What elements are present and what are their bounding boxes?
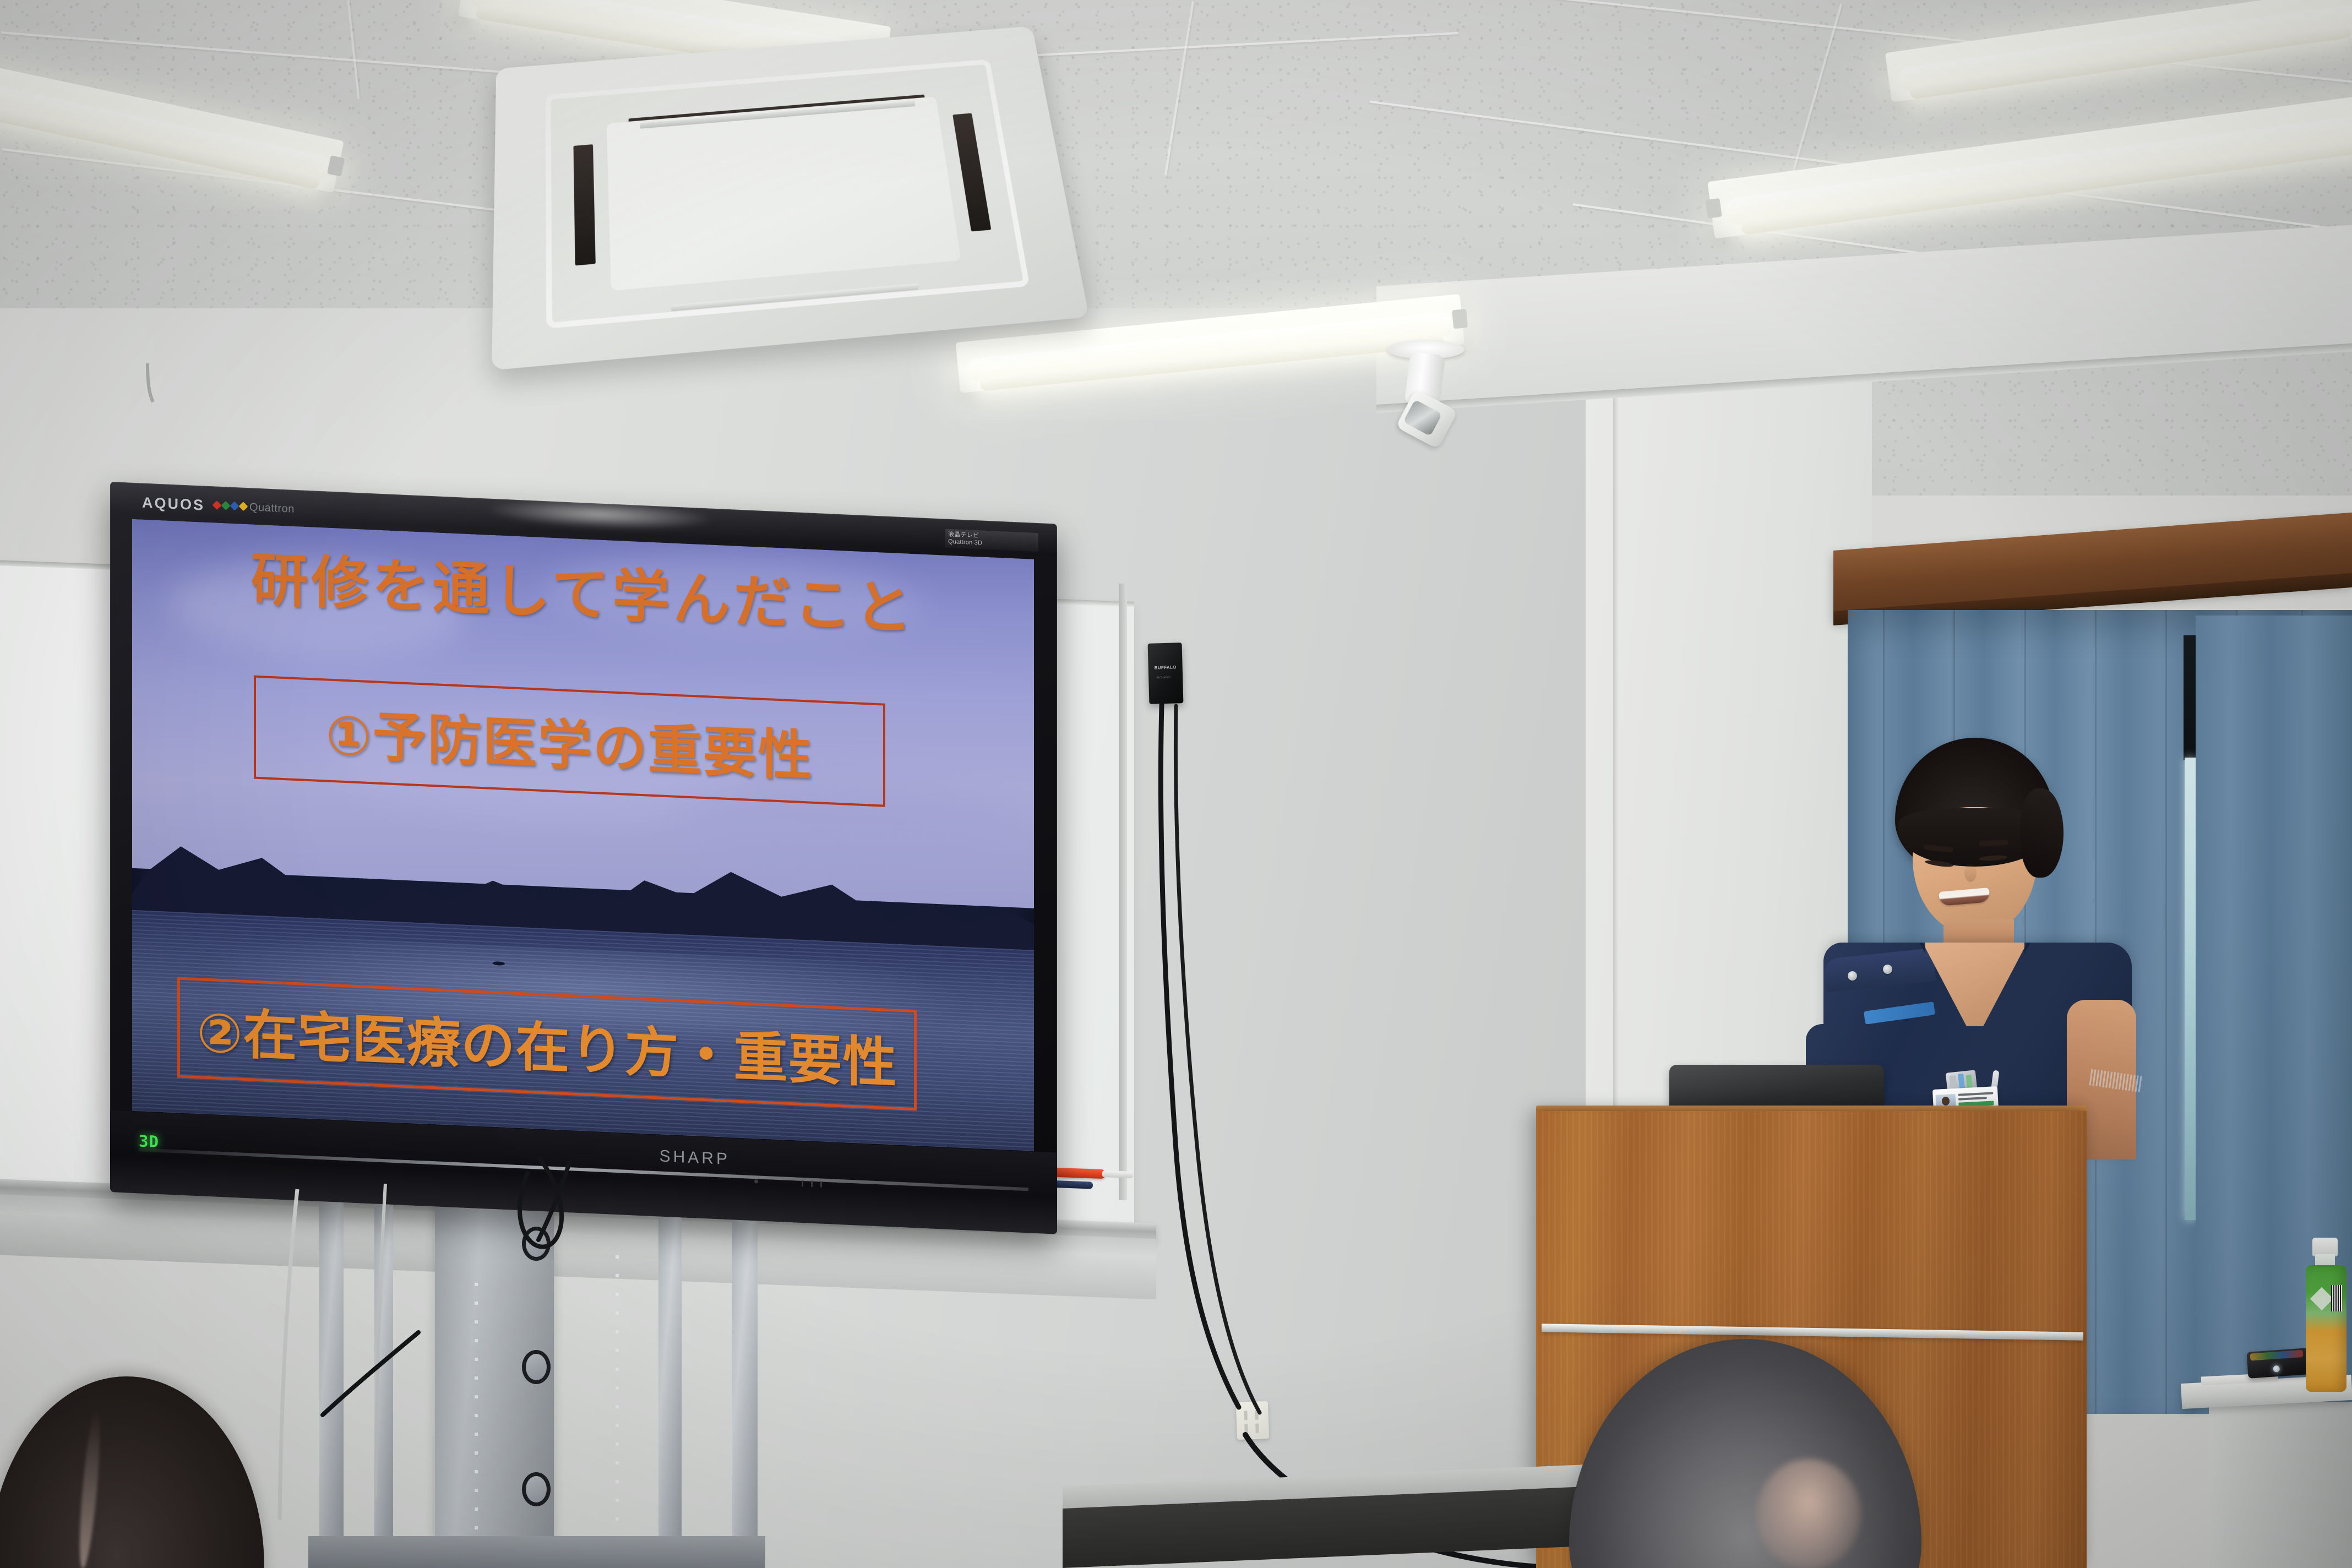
bottle-label bbox=[2306, 1265, 2346, 1392]
badge-text-line-2 bbox=[1958, 1097, 1987, 1101]
audience-right-scalp bbox=[1756, 1459, 1861, 1568]
sharp-logo: SHARP bbox=[660, 1147, 730, 1169]
tv-stand-leg-left bbox=[319, 1156, 344, 1568]
curtain-fold bbox=[2165, 610, 2167, 1414]
badge-text-line-1 bbox=[1958, 1092, 1993, 1096]
light-end-cap bbox=[1705, 198, 1722, 219]
tv-stand-hole-strip-right bbox=[616, 1255, 619, 1542]
quattron-logo: Quattron bbox=[249, 501, 295, 516]
outlet-slot-right bbox=[1255, 1411, 1259, 1420]
presentation-room-photo: AQUOS Quattron 液晶テレビ Quattron 3D bbox=[0, 0, 2352, 1568]
whiteboard-right-post bbox=[1119, 584, 1127, 1201]
slide-item-2-text: ②在宅医療の在り方・重要性 bbox=[197, 989, 897, 1098]
outlet-slot-right-2 bbox=[1255, 1424, 1259, 1433]
ac-vent-left bbox=[574, 144, 596, 265]
tv-remote-control[interactable] bbox=[2246, 1348, 2310, 1379]
light-end-cap bbox=[1452, 309, 1468, 329]
outlet-slot-left bbox=[1244, 1411, 1248, 1420]
tv-3d-indicator: 3D bbox=[139, 1131, 159, 1151]
badge-photo-head bbox=[1942, 1097, 1950, 1106]
tv-stand-leg-right bbox=[658, 1156, 682, 1568]
presenter-shoulder-snap-1 bbox=[1848, 971, 1857, 981]
presentation-slide: 研修を通して学んだこと ①予防医学の重要性 ②在宅医療の在り方・重要性 bbox=[132, 519, 1034, 1151]
tv-stand-base bbox=[308, 1536, 765, 1568]
bottle-barcode bbox=[2331, 1285, 2342, 1311]
tv-stand-cable-hole-1 bbox=[522, 1227, 551, 1261]
tv-stand-leg-left-inner bbox=[374, 1156, 393, 1568]
presenter-shoulder-snap-2 bbox=[1883, 965, 1892, 974]
window-daylight-sliver bbox=[2185, 758, 2196, 1220]
remote-color-buttons bbox=[2250, 1350, 2304, 1361]
remote-led-icon bbox=[2273, 1365, 2280, 1373]
access-point-brand: BUFFALO bbox=[1155, 665, 1177, 670]
ceiling-spotlight bbox=[1387, 340, 1464, 450]
presenter-nose bbox=[1964, 863, 1977, 882]
wall-power-outlet bbox=[1236, 1401, 1269, 1440]
access-point-model: AirStation bbox=[1156, 676, 1170, 680]
tv-stand-cable-hole-3 bbox=[522, 1472, 551, 1506]
ceiling-air-conditioner bbox=[492, 26, 1089, 370]
tv-stand-hole-strip-left bbox=[475, 1283, 478, 1558]
tv-ir-receiver-icon bbox=[754, 1179, 758, 1183]
badge-clip-accent-3 bbox=[1966, 1075, 1972, 1088]
curtain-gap-shadow bbox=[2184, 635, 2196, 760]
bottle-cap bbox=[2312, 1238, 2338, 1256]
presenter-hair-side bbox=[2021, 788, 2064, 878]
aquos-logo: AQUOS bbox=[142, 494, 205, 514]
tv-stand-cable-hole-2 bbox=[522, 1350, 551, 1384]
outlet-slot-left-2 bbox=[1244, 1424, 1248, 1433]
television[interactable]: AQUOS Quattron 液晶テレビ Quattron 3D bbox=[110, 482, 1057, 1234]
slide-item-1-text: ①予防医学の重要性 bbox=[326, 692, 813, 791]
tv-screen[interactable]: 研修を通して学んだこと ①予防医学の重要性 ②在宅医療の在り方・重要性 bbox=[132, 519, 1034, 1151]
tv-control-buttons[interactable] bbox=[802, 1180, 822, 1188]
wall-access-point: BUFFALO AirStation bbox=[1148, 643, 1184, 704]
side-table-body bbox=[2209, 1402, 2352, 1568]
tea-bottle[interactable] bbox=[2306, 1238, 2346, 1392]
